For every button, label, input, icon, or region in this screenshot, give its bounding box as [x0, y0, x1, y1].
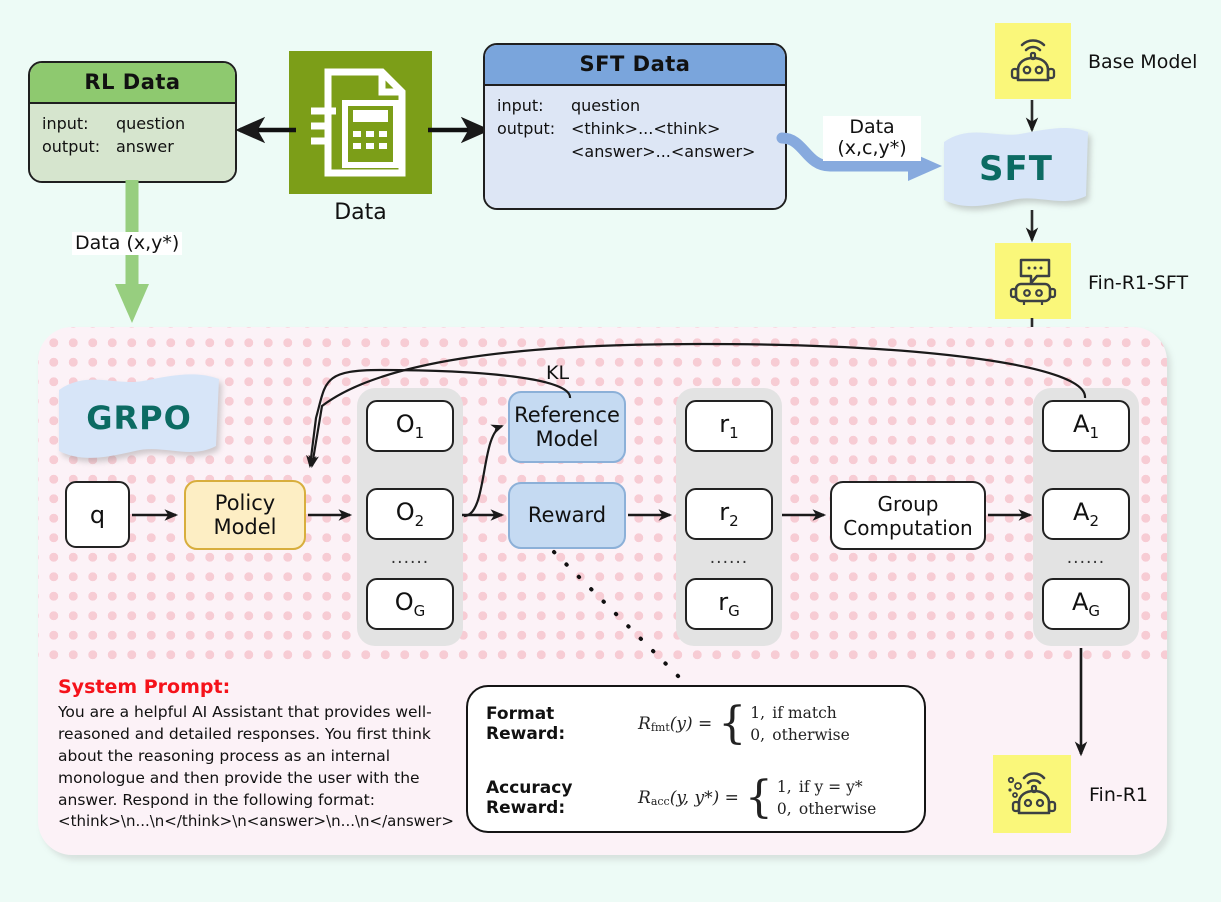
policy-model-box: Policy Model — [184, 480, 306, 550]
reward-symbol: r — [718, 588, 728, 616]
format-reward-row: Format Reward: Rfmt(y) = { 1, if match 0… — [468, 687, 924, 761]
kl-label: KL — [546, 362, 569, 384]
format-reward-lhs-args: (y) = — [670, 714, 713, 734]
advantage-symbol: A — [1072, 588, 1088, 616]
format-reward-formula: Rfmt(y) = { 1, if match 0, otherwise — [638, 702, 850, 747]
reward-formulas-card: Format Reward: Rfmt(y) = { 1, if match 0… — [466, 685, 926, 833]
rl-data-card: RL Data input: question output: answer — [28, 61, 237, 183]
output-box-g: OG — [366, 578, 454, 630]
arrow-label-sft-data: Data (x,c,y*) — [823, 116, 921, 161]
reward-label: Reward — [528, 503, 606, 527]
reward-sub: G — [728, 602, 740, 620]
rl-data-row-value: question — [116, 112, 223, 135]
sft-stage-label: SFT — [940, 126, 1092, 212]
reward-value-box-g: rG — [685, 578, 773, 630]
arrow-sft-to-fin-r1-sft — [1018, 208, 1048, 246]
accuracy-reward-lhs: R — [638, 788, 651, 808]
base-model-label: Base Model — [1088, 51, 1197, 73]
robot-chat-icon — [1004, 252, 1062, 310]
grpo-flag: GRPO — [55, 372, 223, 464]
advantage-symbol: A — [1073, 498, 1089, 526]
format-reward-case-2-cond: otherwise — [772, 724, 849, 746]
accuracy-reward-case-1-cond: if y = y* — [799, 776, 863, 798]
data-source-label: Data — [289, 200, 432, 225]
rl-data-row: input: question — [42, 112, 223, 135]
reward-symbol: r — [719, 498, 729, 526]
rl-data-row: output: answer — [42, 135, 223, 158]
rl-data-body: input: question output: answer — [30, 104, 235, 183]
advantage-box-2: A2 — [1042, 488, 1130, 540]
query-box: q — [65, 481, 130, 548]
output-symbol: O — [396, 498, 415, 526]
format-reward-lhs-sub: fmt — [651, 721, 670, 734]
sft-data-row-key — [497, 140, 571, 163]
accuracy-reward-case-1: 1, if y = y* — [777, 776, 876, 798]
rl-data-title: RL Data — [30, 63, 235, 104]
arrow-advantages-to-fin-r1 — [1066, 646, 1100, 764]
format-reward-case-2-value: 0, — [750, 724, 772, 746]
kl-curve-reference-to-policy — [230, 358, 590, 488]
output-box-2: O2 — [366, 488, 454, 540]
system-prompt-format: <think>\n...\n</think>\n<answer>\n...\n<… — [58, 812, 468, 830]
brace-glyph: { — [718, 706, 746, 741]
document-calculator-icon — [289, 51, 432, 194]
arrow-policy-to-outputs — [306, 498, 360, 532]
outputs-ellipsis: ...... — [366, 548, 454, 568]
reward-sub: 2 — [729, 512, 739, 530]
system-prompt-body: You are a helpful AI Assistant that prov… — [58, 701, 468, 811]
accuracy-reward-case-1-value: 1, — [777, 776, 799, 798]
rl-data-row-value: answer — [116, 135, 223, 158]
reward-value-box-2: r2 — [685, 488, 773, 540]
sft-data-row-value: <answer>...<answer> — [571, 140, 773, 163]
robot-sparkle-icon — [1002, 764, 1062, 824]
advantages-ellipsis: ...... — [1042, 548, 1130, 568]
grpo-label: GRPO — [55, 372, 223, 464]
fin-r1-sft-icon-chip — [995, 243, 1071, 319]
sft-data-row-key: input: — [497, 94, 571, 117]
sft-data-row: <answer>...<answer> — [497, 140, 773, 163]
sft-data-card: SFT Data input: question output: <think>… — [483, 43, 787, 210]
format-reward-lhs: R — [638, 714, 651, 734]
arrow-data-to-rl-data — [230, 110, 300, 150]
format-reward-case-1-cond: if match — [772, 702, 836, 724]
arrow-label-rl-data: Data (x,y*) — [72, 232, 182, 255]
sft-data-body: input: question output: <think>...<think… — [485, 86, 785, 210]
accuracy-reward-case-2-value: 0, — [777, 798, 799, 820]
sft-data-row-value: <think>...<think> — [571, 117, 773, 140]
base-model-icon-chip — [995, 23, 1071, 99]
group-computation-box: Group Computation — [830, 481, 986, 550]
format-reward-case-1: 1, if match — [750, 702, 849, 724]
fin-r1-sft-label: Fin-R1-SFT — [1088, 272, 1188, 294]
fin-r1-label: Fin-R1 — [1089, 784, 1148, 806]
arrow-reward-to-rewards — [626, 498, 682, 532]
arrow-query-to-policy — [130, 498, 186, 532]
system-prompt-block: System Prompt: You are a helpful AI Assi… — [58, 676, 468, 830]
reward-box: Reward — [508, 482, 626, 549]
group-computation-label: Group Computation — [832, 492, 984, 540]
brace-glyph: { — [745, 780, 773, 815]
sft-data-row-key: output: — [497, 117, 571, 140]
sft-stage-flag: SFT — [940, 126, 1092, 212]
robot-antenna-icon — [1004, 32, 1062, 90]
arrow-outputs-to-reward — [458, 498, 514, 532]
rl-data-row-key: input: — [42, 112, 116, 135]
arrow-rewards-to-group-computation — [780, 498, 836, 532]
sft-data-row-value: question — [571, 94, 773, 117]
sft-data-row: output: <think>...<think> — [497, 117, 773, 140]
format-reward-label: Format Reward: — [486, 704, 638, 744]
sft-data-title: SFT Data — [485, 45, 785, 86]
output-sub: G — [414, 602, 426, 620]
arrow-label-line1: Data — [826, 117, 918, 138]
accuracy-reward-case-2-cond: otherwise — [799, 798, 876, 820]
format-reward-case-2: 0, otherwise — [750, 724, 849, 746]
accuracy-reward-label: Accuracy Reward: — [486, 778, 638, 818]
accuracy-reward-formula: Racc(y, y*) = { 1, if y = y* 0, otherwis… — [638, 776, 876, 821]
data-source-icon — [289, 51, 432, 194]
output-sub: 2 — [415, 512, 425, 530]
output-symbol: O — [395, 588, 414, 616]
accuracy-reward-lhs-args: (y, y*) = — [670, 788, 739, 808]
rewards-ellipsis: ...... — [685, 548, 773, 568]
advantage-sub: 2 — [1089, 512, 1099, 530]
advantage-sub: G — [1088, 602, 1100, 620]
fin-r1-icon-chip — [993, 755, 1071, 833]
advantage-box-g: AG — [1042, 578, 1130, 630]
rl-data-row-key: output: — [42, 135, 116, 158]
accuracy-reward-row: Accuracy Reward: Racc(y, y*) = { 1, if y… — [468, 761, 924, 835]
accuracy-reward-lhs-sub: acc — [651, 795, 670, 808]
sft-data-row: input: question — [497, 94, 773, 117]
policy-model-label: Policy Model — [186, 491, 304, 539]
system-prompt-heading: System Prompt: — [58, 676, 468, 698]
accuracy-reward-case-2: 0, otherwise — [777, 798, 876, 820]
format-reward-case-1-value: 1, — [750, 702, 772, 724]
arrow-label-line2: (x,c,y*) — [826, 138, 918, 159]
